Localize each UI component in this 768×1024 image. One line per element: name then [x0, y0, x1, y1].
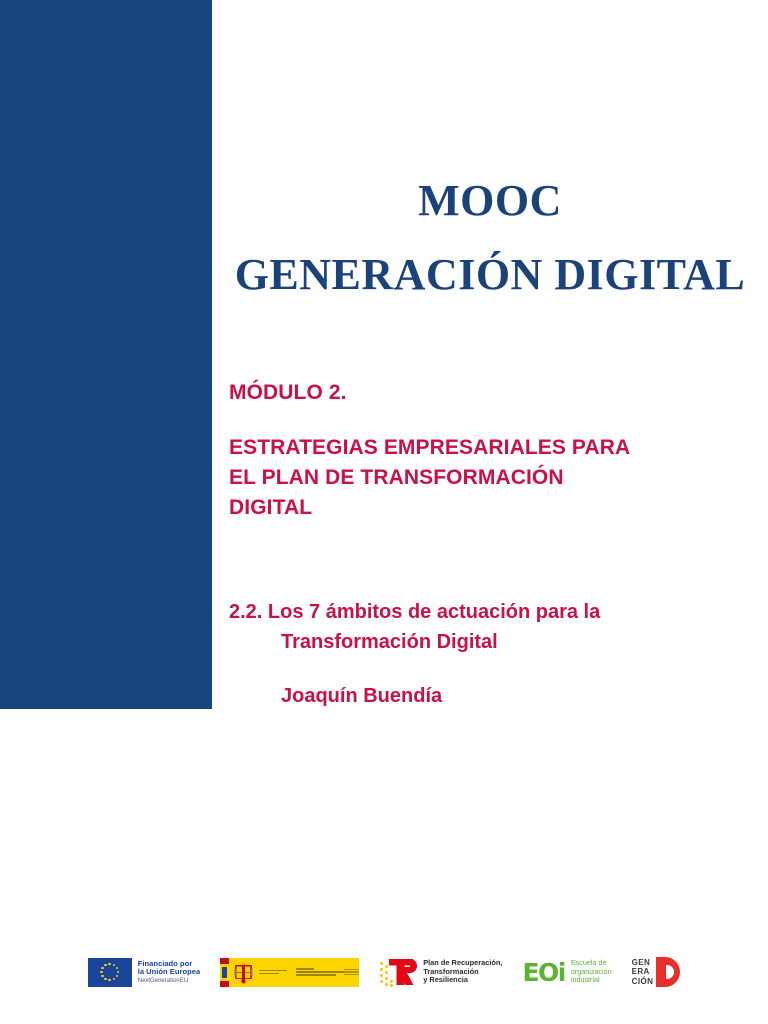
module-name-line-3: DIGITAL [229, 493, 729, 523]
gobierno-espana-logo [220, 955, 359, 989]
gd-line-2: ERA [632, 967, 654, 976]
prtr-line-3: y Resiliencia [423, 976, 502, 985]
left-blue-band [0, 0, 212, 709]
ministerio-wordmark [296, 968, 344, 976]
generacion-digital-logo: GEN ERA CIÓN [632, 955, 681, 989]
module-name-line-2: EL PLAN DE TRANSFORMACIÓN [229, 463, 729, 493]
spain-coat-of-arms-icon [234, 960, 253, 984]
module-name-line-1: ESTRATEGIAS EMPRESARIALES PARA [229, 433, 729, 463]
document-page: MOOC GENERACIÓN DIGITAL MÓDULO 2. ESTRAT… [0, 0, 768, 1024]
gobierno-espana-wordmark [259, 970, 287, 975]
module-number: MÓDULO 2. [229, 378, 729, 408]
author-name: Joaquín Buendía [229, 681, 749, 711]
course-title-block: MOOC GENERACIÓN DIGITAL [212, 178, 768, 298]
eu-funding-line-2: la Unión Europea [138, 968, 200, 977]
section-title-line-2: Transformación Digital [229, 627, 749, 657]
spain-flag-icon [220, 958, 229, 987]
eoi-line-3: industrial [571, 976, 612, 985]
gobierno-espana-plate [220, 958, 359, 987]
secretaria-wordmark [344, 969, 359, 976]
eu-flag-icon [88, 958, 132, 987]
gd-line-3: CIÓN [632, 977, 654, 986]
section-title-line-1: 2.2. Los 7 ámbitos de actuación para la [229, 597, 749, 627]
plan-recuperacion-text: Plan de Recuperación, Transformación y R… [423, 959, 502, 986]
prtr-mark-icon [379, 957, 417, 987]
section-heading-block: 2.2. Los 7 ámbitos de actuación para la … [229, 597, 749, 711]
footer-logo-strip: Financiado por la Unión Europea NextGene… [0, 948, 768, 996]
gd-line-1: GEN [632, 958, 654, 967]
eu-funding-line-3: NextGenerationEU [138, 978, 200, 985]
page-title-line-1: MOOC [212, 178, 768, 224]
plan-recuperacion-logo: Plan de Recuperación, Transformación y R… [379, 955, 502, 989]
eoi-wordmark: EOi [522, 960, 564, 985]
module-heading-block: MÓDULO 2. ESTRATEGIAS EMPRESARIALES PARA… [229, 378, 729, 523]
page-title-line-2: GENERACIÓN DIGITAL [212, 252, 768, 298]
eu-funding-logo: Financiado por la Unión Europea NextGene… [88, 955, 200, 989]
eu-funding-text: Financiado por la Unión Europea NextGene… [138, 960, 200, 985]
eoi-logo: EOi Escuela de organización industrial [522, 955, 611, 989]
generacion-digital-wordmark: GEN ERA CIÓN [632, 958, 654, 986]
digital-d-icon [656, 957, 680, 987]
eoi-text: Escuela de organización industrial [571, 959, 612, 985]
